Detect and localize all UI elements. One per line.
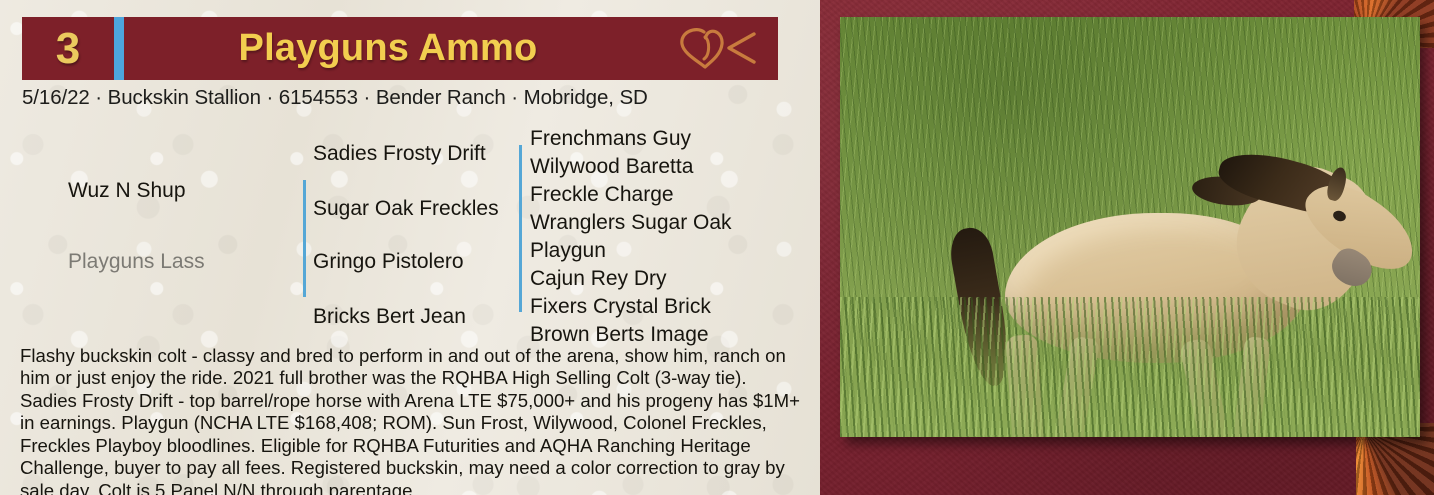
horse-details-line: 5/16/22 · Buckskin Stallion · 6154553 · …: [22, 86, 802, 110]
foal-photo: [840, 17, 1420, 437]
lot-header-bar: 3 Playguns Ammo: [22, 17, 778, 80]
pedigree-gen3-item: Playgun: [530, 239, 606, 263]
pedigree-gen3-item: Brown Berts Image: [530, 323, 709, 347]
lot-number: 3: [22, 27, 114, 71]
heart-brand-icon: [670, 28, 778, 70]
pedigree-gen3-item: Wilywood Baretta: [530, 155, 693, 179]
pedigree-dam: Playguns Lass: [68, 250, 205, 274]
pedigree-sire: Wuz N Shup: [68, 179, 186, 203]
pedigree-connector-gen2: [303, 180, 306, 297]
pedigree-gen3-item: Freckle Charge: [530, 183, 674, 207]
page-title: Playguns Ammo: [124, 27, 670, 70]
pedigree-chart: Wuz N Shup Playguns Lass Sadies Frosty D…: [0, 110, 820, 340]
sale-catalog-page: 3 Playguns Ammo 5/16/22 · Buckskin Stall…: [0, 0, 1434, 495]
pedigree-gen3-item: Cajun Rey Dry: [530, 267, 667, 291]
pedigree-gen2-item: Sadies Frosty Drift: [313, 142, 486, 166]
horse-description: Flashy buckskin colt - classy and bred t…: [20, 345, 804, 495]
pedigree-gen3-item: Fixers Crystal Brick: [530, 295, 711, 319]
pedigree-gen2-item: Bricks Bert Jean: [313, 305, 466, 329]
header-divider: [114, 17, 124, 80]
pedigree-gen3-item: Wranglers Sugar Oak: [530, 211, 732, 235]
pedigree-gen2-item: Gringo Pistolero: [313, 250, 464, 274]
pedigree-connector-gen3: [519, 145, 522, 312]
foreground-grass: [840, 297, 1420, 437]
pedigree-gen2-item: Sugar Oak Freckles: [313, 197, 499, 221]
pedigree-gen3-item: Frenchmans Guy: [530, 127, 691, 151]
